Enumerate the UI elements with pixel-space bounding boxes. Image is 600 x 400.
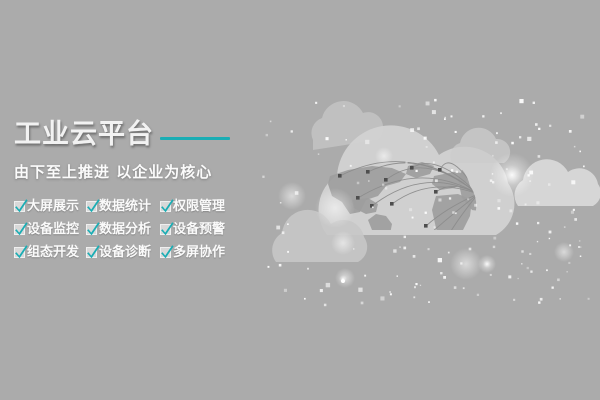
feature-label: 数据分析: [99, 223, 151, 236]
feature-label: 数据统计: [99, 200, 151, 213]
feature-label: 设备监控: [27, 223, 79, 236]
feature-item[interactable]: 设备预警: [160, 218, 240, 240]
feature-item[interactable]: 大屏展示: [14, 195, 86, 217]
feature-label: 多屏协作: [173, 246, 225, 259]
feature-item[interactable]: 数据分析: [86, 218, 160, 240]
page-title: 工业云平台: [14, 118, 154, 152]
title-row: 工业云平台: [14, 118, 284, 152]
feature-item[interactable]: 数据统计: [86, 195, 160, 217]
feature-label: 设备预警: [173, 223, 225, 236]
feature-item[interactable]: 权限管理: [160, 195, 240, 217]
checkbox-checked-icon[interactable]: [14, 224, 25, 235]
feature-label: 权限管理: [173, 200, 225, 213]
checkbox-checked-icon[interactable]: [86, 247, 97, 258]
checkbox-checked-icon[interactable]: [160, 224, 171, 235]
feature-item[interactable]: 多屏协作: [160, 241, 240, 263]
feature-checklist: 大屏展示数据统计权限管理设备监控数据分析设备预警组态开发设备诊断多屏协作: [14, 195, 284, 263]
checkbox-checked-icon[interactable]: [14, 247, 25, 258]
feature-label: 大屏展示: [27, 200, 79, 213]
feature-label: 组态开发: [27, 246, 79, 259]
banner-text-block: 工业云平台 由下至上推进 以企业为核心 大屏展示数据统计权限管理设备监控数据分析…: [14, 118, 284, 263]
checkbox-checked-icon[interactable]: [14, 201, 25, 212]
checkbox-checked-icon[interactable]: [160, 201, 171, 212]
checkbox-checked-icon[interactable]: [86, 201, 97, 212]
checkbox-checked-icon[interactable]: [86, 224, 97, 235]
page-subtitle: 由下至上推进 以企业为核心: [14, 161, 284, 182]
title-underline: [160, 137, 230, 140]
feature-item[interactable]: 组态开发: [14, 241, 86, 263]
promo-banner: 工业云平台 由下至上推进 以企业为核心 大屏展示数据统计权限管理设备监控数据分析…: [0, 0, 600, 400]
feature-item[interactable]: 设备监控: [14, 218, 86, 240]
checkbox-checked-icon[interactable]: [160, 247, 171, 258]
feature-item[interactable]: 设备诊断: [86, 241, 160, 263]
feature-label: 设备诊断: [99, 246, 151, 259]
